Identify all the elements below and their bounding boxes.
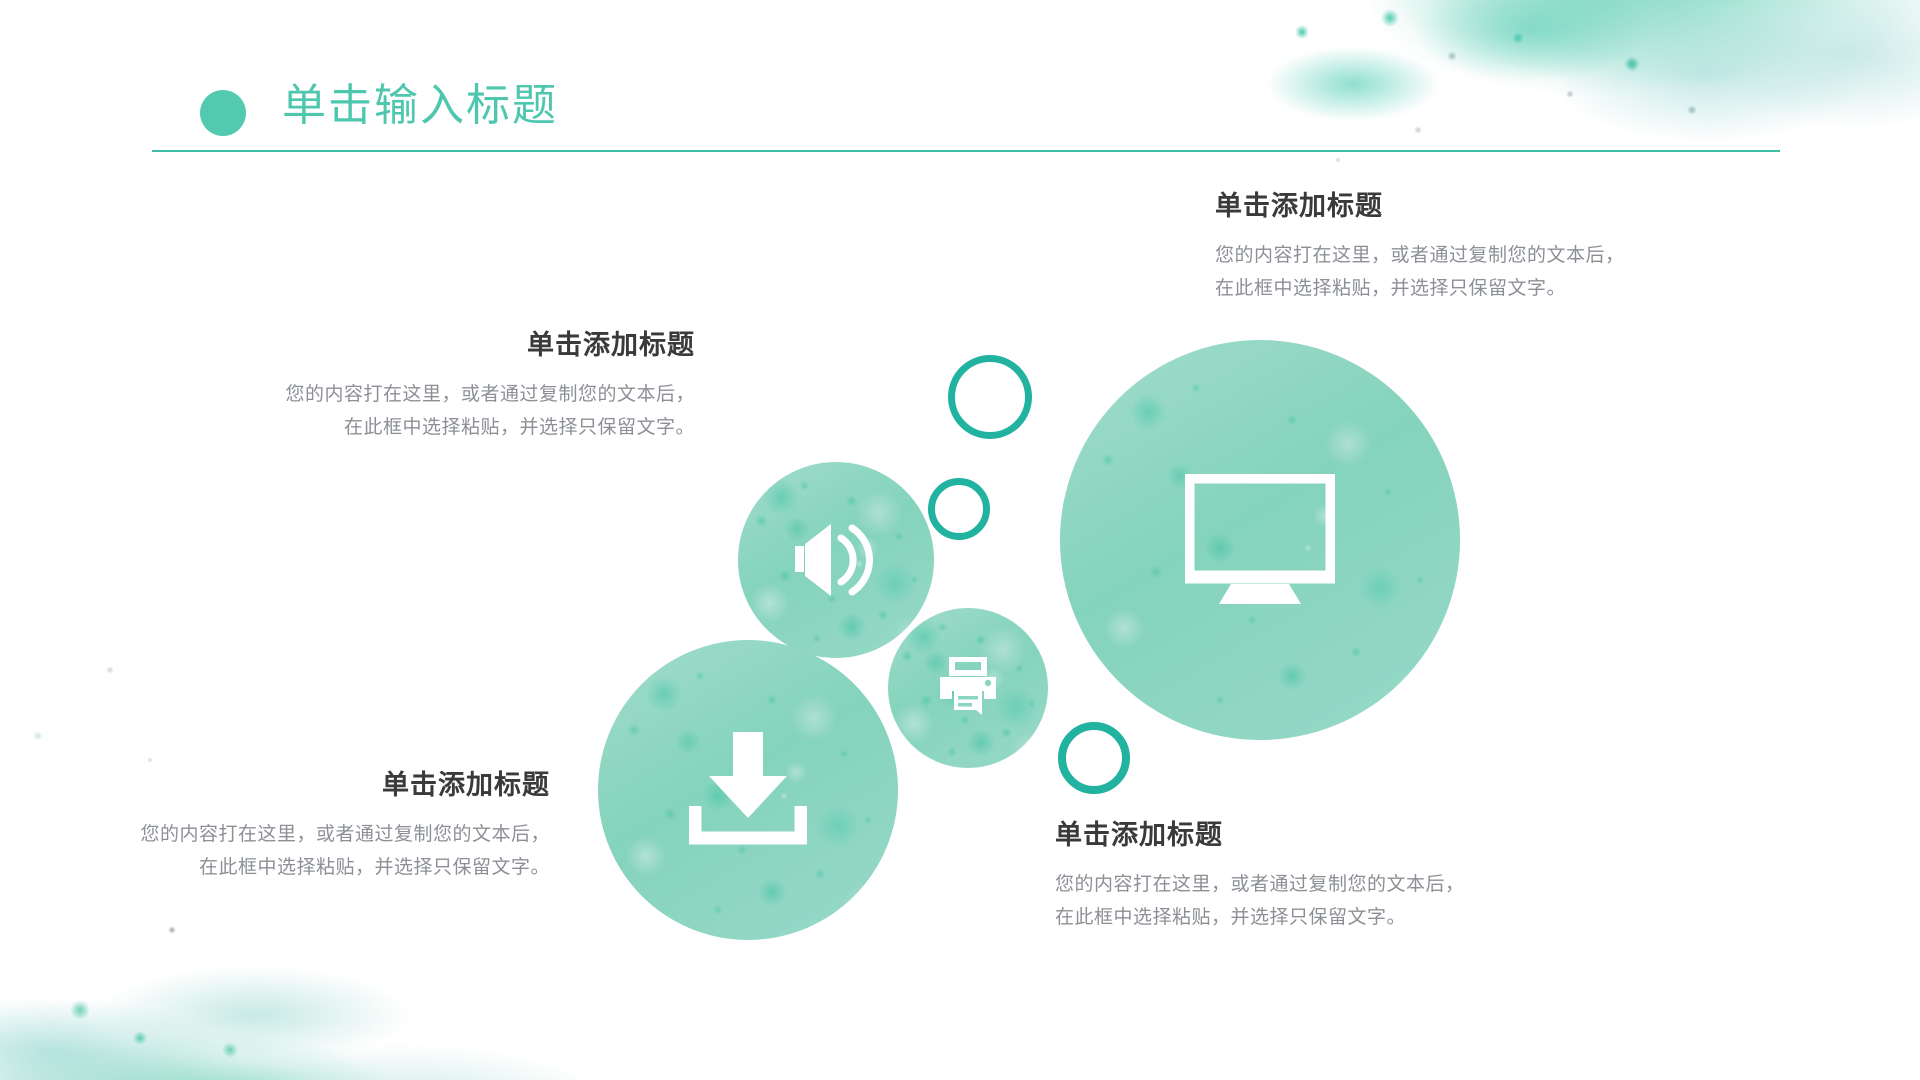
block-body: 您的内容打在这里，或者通过复制您的文本后， 在此框中选择粘贴，并选择只保留文字。 <box>30 818 550 885</box>
block-heading: 单击添加标题 <box>175 325 695 366</box>
bubble-download[interactable] <box>598 640 898 940</box>
slide-canvas: 单击输入标题 <box>0 0 1920 1080</box>
bubble-printer[interactable] <box>888 608 1048 768</box>
monitor-icon <box>1185 474 1335 606</box>
block-body: 您的内容打在这里，或者通过复制您的文本后， 在此框中选择粘贴，并选择只保留文字。 <box>1055 868 1615 935</box>
download-icon <box>689 732 807 848</box>
block-heading: 单击添加标题 <box>30 765 550 806</box>
block-body: 您的内容打在这里，或者通过复制您的文本后， 在此框中选择粘贴，并选择只保留文字。 <box>175 378 695 445</box>
decor-ring-low <box>1058 722 1130 794</box>
block-heading: 单击添加标题 <box>1055 815 1615 856</box>
block-body-line-2: 在此框中选择粘贴，并选择只保留文字。 <box>1055 901 1615 934</box>
block-body-line-2: 在此框中选择粘贴，并选择只保留文字。 <box>1215 272 1775 305</box>
decor-ring-large <box>948 355 1032 439</box>
bubble-speaker[interactable] <box>738 462 934 658</box>
block-body-line-1: 您的内容打在这里，或者通过复制您的文本后， <box>175 378 695 411</box>
decor-ring-small <box>928 478 990 540</box>
speaker-icon <box>793 522 879 598</box>
printer-icon <box>936 657 1000 719</box>
bubble-cluster-graphic <box>0 0 1920 1080</box>
bubble-monitor[interactable] <box>1060 340 1460 740</box>
text-block-top-right: 单击添加标题 您的内容打在这里，或者通过复制您的文本后， 在此框中选择粘贴，并选… <box>1215 186 1775 305</box>
block-body: 您的内容打在这里，或者通过复制您的文本后， 在此框中选择粘贴，并选择只保留文字。 <box>1215 239 1775 306</box>
block-body-line-2: 在此框中选择粘贴，并选择只保留文字。 <box>175 411 695 444</box>
text-block-left-top: 单击添加标题 您的内容打在这里，或者通过复制您的文本后， 在此框中选择粘贴，并选… <box>175 325 695 444</box>
block-body-line-1: 您的内容打在这里，或者通过复制您的文本后， <box>30 818 550 851</box>
block-body-line-1: 您的内容打在这里，或者通过复制您的文本后， <box>1215 239 1775 272</box>
block-heading: 单击添加标题 <box>1215 186 1775 227</box>
block-body-line-2: 在此框中选择粘贴，并选择只保留文字。 <box>30 851 550 884</box>
block-body-line-1: 您的内容打在这里，或者通过复制您的文本后， <box>1055 868 1615 901</box>
text-block-bottom-left: 单击添加标题 您的内容打在这里，或者通过复制您的文本后， 在此框中选择粘贴，并选… <box>30 765 550 884</box>
text-block-bottom-right: 单击添加标题 您的内容打在这里，或者通过复制您的文本后， 在此框中选择粘贴，并选… <box>1055 815 1615 934</box>
